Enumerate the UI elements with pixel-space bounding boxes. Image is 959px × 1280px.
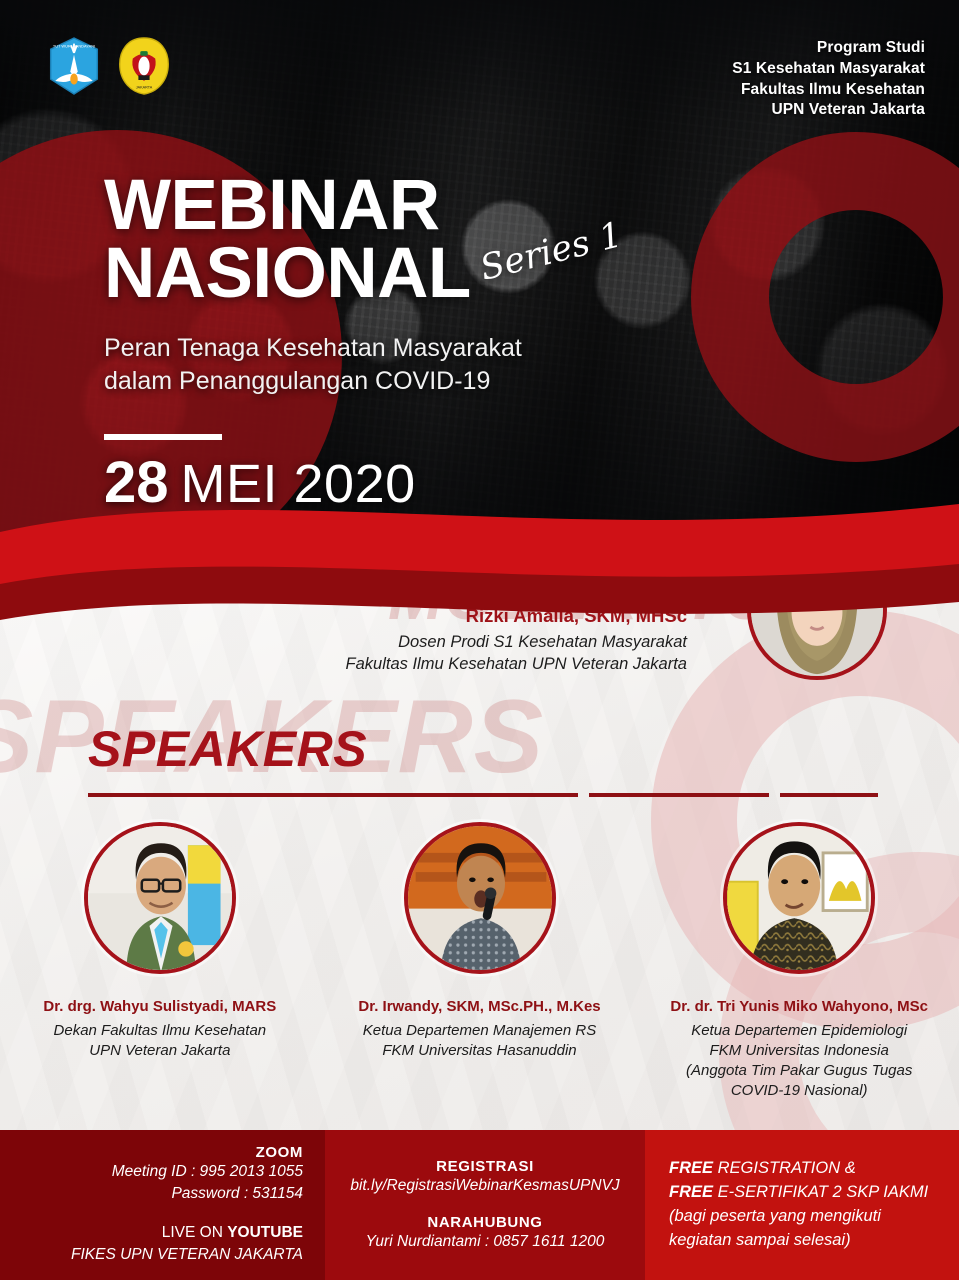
free-text-2: E-SERTIFIKAT 2 SKP IAKMI [713,1183,928,1201]
free-certificate-line: FREE E-SERTIFIKAT 2 SKP IAKMI [669,1181,928,1205]
speaker-name: Dr. dr. Tri Yunis Miko Wahyono, MSc [670,998,928,1015]
free-label-1: FREE [669,1159,713,1177]
free-registration-line: FREE REGISTRATION & [669,1157,856,1181]
zoom-password: Password : 531154 [171,1183,303,1205]
speaker-avatar-3 [723,822,875,974]
footer-bar: ZOOM Meeting ID : 995 2013 1055 Password… [0,1130,959,1280]
program-studi-line-4: UPN Veteran Jakarta [732,100,925,121]
live-on-line: LIVE ON YOUTUBE [162,1222,303,1244]
speakers-list: Dr. drg. Wahyu Sulistyadi, MARS Dekan Fa… [0,822,959,1101]
footer-free-panel: FREE REGISTRATION & FREE E-SERTIFIKAT 2 … [645,1130,959,1280]
live-on-platform: YOUTUBE [227,1224,303,1241]
footer-zoom-panel: ZOOM Meeting ID : 995 2013 1055 Password… [0,1130,325,1280]
program-studi-line-2: S1 Kesehatan Masyarakat [732,59,925,80]
speaker-avatar-1 [84,822,236,974]
speaker-name: Dr. drg. Wahyu Sulistyadi, MARS [43,998,276,1015]
svg-text:TUT WURI HANDAYANI: TUT WURI HANDAYANI [53,43,95,48]
program-studi-block: Program Studi S1 Kesehatan Masyarakat Fa… [732,38,925,121]
svg-text:JAKARTA: JAKARTA [136,85,153,89]
title-divider-rule [104,434,222,440]
free-note-line-2: kegiatan sampai selesai) [669,1229,851,1253]
zoom-meeting-id: Meeting ID : 995 2013 1055 [112,1161,303,1183]
speakers-heading: SPEAKERS [88,720,367,778]
free-label-2: FREE [669,1183,713,1201]
footer-registration-panel: REGISTRASI bit.ly/RegistrasiWebinarKesma… [325,1130,645,1280]
speakers-divider-rules [88,793,878,797]
program-studi-line-1: Program Studi [732,38,925,59]
moderator-affiliation-line-2: Fakultas Ilmu Kesehatan UPN Veteran Jaka… [217,653,687,675]
registration-heading: REGISTRASI [436,1158,534,1175]
youtube-channel: FIKES UPN VETERAN JAKARTA [71,1244,303,1266]
free-text-1: REGISTRATION & [713,1159,856,1177]
poster-subtitle-line-1: Peran Tenaga Kesehatan Masyarakat [104,332,522,365]
upn-veteran-jakarta-logo: JAKARTA [116,36,172,96]
speaker-card: Dr. dr. Tri Yunis Miko Wahyono, MSc Ketu… [639,822,959,1101]
webinar-poster: TUT WURI HANDAYANI JAKARTA Program Studi… [0,0,959,1280]
registration-link[interactable]: bit.ly/RegistrasiWebinarKesmasUPNVJ [350,1175,619,1197]
speaker-affiliation: Ketua Departemen Manajemen RS FKM Univer… [363,1021,596,1061]
contact-heading: NARAHUBUNG [427,1214,542,1231]
speaker-name: Dr. Irwandy, SKM, MSc.PH., M.Kes [358,998,600,1015]
speaker-affiliation: Ketua Departemen Epidemiologi FKM Univer… [686,1021,912,1101]
speaker-avatar-2 [404,822,556,974]
speakers-rule-segment-2 [589,793,769,797]
speaker-card: Dr. Irwandy, SKM, MSc.PH., M.Kes Ketua D… [320,822,640,1101]
contact-person: Yuri Nurdiantami : 0857 1611 1200 [366,1231,605,1253]
institution-logos: TUT WURI HANDAYANI JAKARTA [46,36,172,96]
moderator-affiliation-line-1: Dosen Prodi S1 Kesehatan Masyarakat [217,631,687,653]
speaker-card: Dr. drg. Wahyu Sulistyadi, MARS Dekan Fa… [0,822,320,1101]
live-on-prefix: LIVE ON [162,1224,227,1241]
poster-title-line-2: NASIONAL [104,240,522,308]
middle-section: MODERATOR SPEAKERS MODERATOR Rizki Amali… [0,600,959,1130]
program-studi-line-3: Fakultas Ilmu Kesehatan [732,80,925,101]
zoom-heading: ZOOM [256,1144,303,1161]
free-note-line-1: (bagi peserta yang mengikuti [669,1205,881,1229]
poster-subtitle-line-2: dalam Penanggulangan COVID-19 [104,365,522,398]
speakers-rule-segment-1 [88,793,578,797]
poster-title-line-1: WEBINAR [104,172,522,240]
red-wave-divider [0,498,959,628]
speakers-heading-block: SPEAKERS [88,720,367,778]
speaker-affiliation: Dekan Fakultas Ilmu Kesehatan UPN Vetera… [54,1021,267,1061]
hero-text-block: WEBINAR NASIONAL Peran Tenaga Kesehatan … [104,172,522,553]
speakers-rule-segment-3 [780,793,878,797]
tut-wuri-handayani-logo: TUT WURI HANDAYANI [46,36,102,96]
